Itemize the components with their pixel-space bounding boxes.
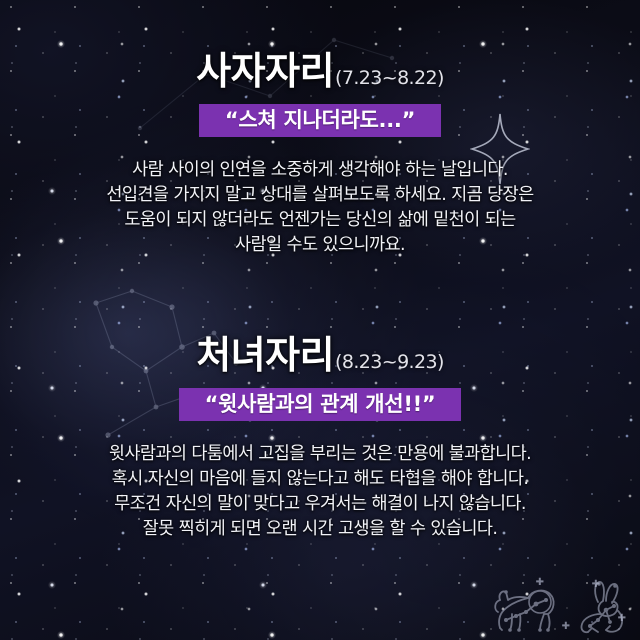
banner-wrap-leo: “스쳐 지나더라도...” xyxy=(0,104,640,137)
sign-dates-virgo: (8.23~9.23) xyxy=(335,351,444,373)
mini-sparkle-icon: ✚ xyxy=(592,579,600,590)
body-line: 사람일 수도 있으니까요. xyxy=(0,233,640,258)
horoscope-section-leo: 사자자리(7.23~8.22) “스쳐 지나더라도...” 사람 사이의 인연을… xyxy=(0,52,640,258)
body-line: 잘못 찍히게 되면 오랜 시간 고생을 할 수 있습니다. xyxy=(0,517,640,542)
tagline-banner-leo: “스쳐 지나더라도...” xyxy=(199,104,441,137)
sign-dates-leo: (7.23~8.22) xyxy=(335,67,444,89)
body-line: 도움이 되지 않더라도 언젠가는 당신의 삶에 밑천이 되는 xyxy=(0,208,640,233)
mini-sparkle-icon: ✚ xyxy=(562,621,570,632)
mini-sparkle-icon: ✚ xyxy=(536,577,544,588)
body-line: 선입견을 가지지 말고 상대를 살펴보도록 하세요. 지금 당장은 xyxy=(0,183,640,208)
body-line: 윗사람과의 다툼에서 고집을 부리는 것은 만용에 불과합니다. xyxy=(0,442,640,467)
body-text-leo: 사람 사이의 인연을 소중하게 생각해야 하는 날입니다. 선입견을 가지지 말… xyxy=(0,158,640,258)
zodiac-icon-group xyxy=(490,580,632,636)
sign-name-virgo: 처녀자리 xyxy=(196,333,334,377)
body-line: 무조건 자신의 말이 맞다고 우겨서는 해결이 나지 않습니다. xyxy=(0,492,640,517)
horoscope-card: 사자자리(7.23~8.22) “스쳐 지나더라도...” 사람 사이의 인연을… xyxy=(0,0,640,640)
lion-constellation-icon xyxy=(490,580,562,636)
tagline-banner-virgo: “윗사람과의 관계 개선!!” xyxy=(179,388,462,421)
mini-sparkle-icon: ✚ xyxy=(618,613,626,624)
banner-wrap-virgo: “윗사람과의 관계 개선!!” xyxy=(0,388,640,421)
sign-heading-virgo: 처녀자리(8.23~9.23) xyxy=(0,336,640,374)
body-line: 사람 사이의 인연을 소중하게 생각해야 하는 날입니다. xyxy=(0,158,640,183)
rabbit-constellation-icon xyxy=(570,580,632,636)
sign-heading-leo: 사자자리(7.23~8.22) xyxy=(0,52,640,90)
sign-name-leo: 사자자리 xyxy=(196,49,334,93)
body-line: 혹시 자신의 마음에 들지 않는다고 해도 타협을 해야 합니다. xyxy=(0,467,640,492)
body-text-virgo: 윗사람과의 다툼에서 고집을 부리는 것은 만용에 불과합니다. 혹시 자신의 … xyxy=(0,442,640,542)
horoscope-section-virgo: 처녀자리(8.23~9.23) “윗사람과의 관계 개선!!” 윗사람과의 다툼… xyxy=(0,336,640,542)
